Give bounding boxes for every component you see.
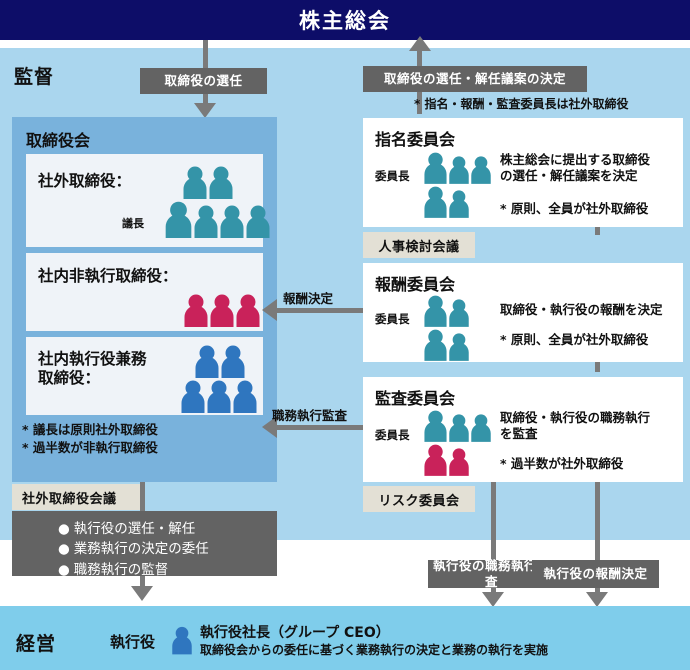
supervision-label: 監督 bbox=[14, 62, 54, 89]
flow-elect-directors: 取締役の選任 bbox=[140, 68, 267, 94]
arrow-comp-decision bbox=[262, 299, 277, 321]
person-icon bbox=[470, 413, 492, 442]
person-icon bbox=[423, 443, 448, 476]
audit-chair-label: 委員長 bbox=[375, 427, 410, 443]
person-icon bbox=[193, 204, 219, 238]
person-icon bbox=[448, 189, 470, 218]
arrow-proposal-to-shareholders bbox=[409, 36, 431, 51]
connector-duty-audit bbox=[275, 425, 363, 430]
bullet-icon: ● bbox=[58, 560, 70, 580]
board-duty-label: 執行役の選任・解任 bbox=[74, 521, 196, 537]
person-icon bbox=[448, 298, 470, 327]
arrow-elect-to-board bbox=[194, 103, 216, 118]
person-icon bbox=[183, 293, 209, 327]
board-note-2: * 過半数が非執行取締役 bbox=[22, 439, 158, 457]
person-icon-chairman bbox=[164, 200, 193, 238]
board-of-directors-panel: 取締役会 社外取締役： 議長 社内非執行取締役： bbox=[12, 117, 277, 482]
nomination-committee-title: 指名委員会 bbox=[375, 126, 455, 150]
outside-directors-people bbox=[164, 165, 271, 238]
arrow-exec-audit-to-management bbox=[482, 592, 504, 607]
outside-directors-meeting-tab: 社外取締役会議 bbox=[12, 484, 140, 510]
audit-committee-desc: 取締役・執行役の職務執行 を監査 bbox=[500, 410, 650, 443]
nomination-committee-card: 指名委員会 委員長 株主総会に提出する取締役 の選任・解任議案を決定 * 原則、… bbox=[363, 118, 683, 227]
person-icon bbox=[245, 204, 271, 238]
person-icon bbox=[235, 293, 261, 327]
audit-committee-title: 監査委員会 bbox=[375, 385, 455, 409]
connector-elect-top bbox=[203, 40, 208, 70]
person-icon bbox=[448, 155, 470, 184]
hr-review-meeting-label: 人事検討会議 bbox=[378, 236, 459, 255]
bullet-icon: ● bbox=[58, 519, 70, 539]
board-of-directors-title: 取締役会 bbox=[26, 127, 90, 151]
person-icon bbox=[182, 165, 208, 199]
person-icon bbox=[423, 328, 448, 361]
person-icon-ceo bbox=[171, 625, 193, 655]
person-icon bbox=[180, 379, 206, 413]
person-icon bbox=[220, 344, 246, 378]
board-duty-item: ●職務執行の監督 bbox=[58, 560, 267, 580]
chair-note: * 指名・報酬・監査委員長は社外取締役 bbox=[414, 95, 628, 112]
board-duty-item: ●執行役の選任・解任 bbox=[58, 519, 267, 539]
arrow-exec-comp-to-management bbox=[586, 592, 608, 607]
compensation-committee-note: * 原則、全員が社外取締役 bbox=[500, 329, 648, 348]
shareholders-meeting-header: 株主総会 bbox=[0, 0, 690, 40]
connector-exec-comp-top bbox=[595, 482, 600, 562]
flow-elect-directors-label: 取締役の選任 bbox=[164, 73, 242, 89]
compensation-committee-people bbox=[423, 294, 470, 361]
compensation-committee-desc: 取締役・執行役の報酬を決定 bbox=[500, 302, 663, 318]
risk-committee-tab: リスク委員会 bbox=[363, 486, 475, 512]
person-icon bbox=[470, 155, 492, 184]
outside-directors-label: 社外取締役： bbox=[38, 172, 131, 191]
person-icon bbox=[194, 344, 220, 378]
nomination-committee-people bbox=[423, 151, 492, 218]
connector-exec-audit-top bbox=[491, 482, 496, 562]
internal-nonexec-people bbox=[183, 293, 261, 327]
nomination-committee-desc: 株主総会に提出する取締役 の選任・解任議案を決定 bbox=[500, 152, 650, 185]
management-label: 経営 bbox=[16, 629, 56, 656]
connector-committee-1-2 bbox=[595, 227, 600, 235]
person-icon bbox=[206, 379, 232, 413]
flow-duty-audit-label: 職務執行監査 bbox=[272, 405, 347, 424]
executive-officer-role-label: 執行役 bbox=[110, 631, 155, 652]
internal-exec-people bbox=[180, 344, 258, 413]
person-icon bbox=[423, 151, 448, 184]
ceo-title: 執行役社長（グループ CEO） bbox=[200, 622, 390, 642]
compensation-committee-card: 報酬委員会 委員長 取締役・執行役の報酬を決定 * 原則、全員が社外取締役 bbox=[363, 263, 683, 362]
person-icon bbox=[448, 447, 470, 476]
flow-elect-dismiss-proposal-label: 取締役の選任・解任議案の決定 bbox=[384, 71, 566, 87]
person-icon bbox=[448, 332, 470, 361]
governance-diagram: 株主総会 監督 取締役の選任 取締役の選任・解任議案の決定 * 指名・報酬・監査… bbox=[0, 0, 690, 670]
flow-elect-dismiss-proposal: 取締役の選任・解任議案の決定 bbox=[363, 66, 587, 92]
compensation-chair-label: 委員長 bbox=[375, 311, 410, 327]
board-duties-box: ●執行役の選任・解任 ●業務執行の決定の委任 ●職務執行の監督 bbox=[12, 511, 277, 576]
person-icon bbox=[232, 379, 258, 413]
connector-board-to-duties bbox=[140, 482, 145, 512]
internal-nonexec-directors-label: 社内非執行取締役： bbox=[38, 267, 178, 286]
audit-committee-people bbox=[423, 409, 492, 476]
person-icon bbox=[209, 293, 235, 327]
person-icon bbox=[219, 204, 245, 238]
person-icon bbox=[208, 165, 234, 199]
connector-committee-2-3 bbox=[595, 362, 600, 372]
person-icon bbox=[423, 185, 448, 218]
connector-comp-decision bbox=[275, 308, 363, 313]
board-note-1: * 議長は原則社外取締役 bbox=[22, 421, 158, 439]
risk-committee-label: リスク委員会 bbox=[378, 490, 459, 509]
audit-committee-card: 監査委員会 委員長 取締役・執行役の職務執行 を監査 * 過半数が社外取締役 bbox=[363, 377, 683, 482]
outside-directors-meeting-label: 社外取締役会議 bbox=[22, 488, 117, 507]
board-duty-label: 業務執行の決定の委任 bbox=[74, 541, 209, 557]
flow-exec-comp-decision-label: 執行役の報酬決定 bbox=[543, 566, 647, 582]
ceo-description: 取締役会からの委任に基づく業務執行の決定と業務の執行を実施 bbox=[200, 641, 548, 658]
board-duty-item: ●業務執行の決定の委任 bbox=[58, 539, 267, 559]
person-icon bbox=[423, 409, 448, 442]
person-icon bbox=[423, 294, 448, 327]
nomination-committee-note: * 原則、全員が社外取締役 bbox=[500, 198, 648, 217]
chairman-sub-label: 議長 bbox=[122, 215, 144, 231]
internal-exec-directors-label: 社内執行役兼務 取締役： bbox=[38, 350, 147, 387]
compensation-committee-title: 報酬委員会 bbox=[375, 271, 455, 295]
arrow-duties-to-management bbox=[131, 586, 153, 601]
flow-exec-comp-decision: 執行役の報酬決定 bbox=[532, 560, 659, 588]
bullet-icon: ● bbox=[58, 539, 70, 559]
shareholders-meeting-title: 株主総会 bbox=[299, 5, 391, 35]
board-duty-label: 職務執行の監督 bbox=[74, 562, 169, 578]
audit-committee-note: * 過半数が社外取締役 bbox=[500, 453, 623, 472]
person-icon bbox=[448, 413, 470, 442]
nomination-chair-label: 委員長 bbox=[375, 168, 410, 184]
hr-review-meeting-tab: 人事検討会議 bbox=[363, 232, 475, 258]
flow-comp-decision-label: 報酬決定 bbox=[283, 288, 333, 307]
